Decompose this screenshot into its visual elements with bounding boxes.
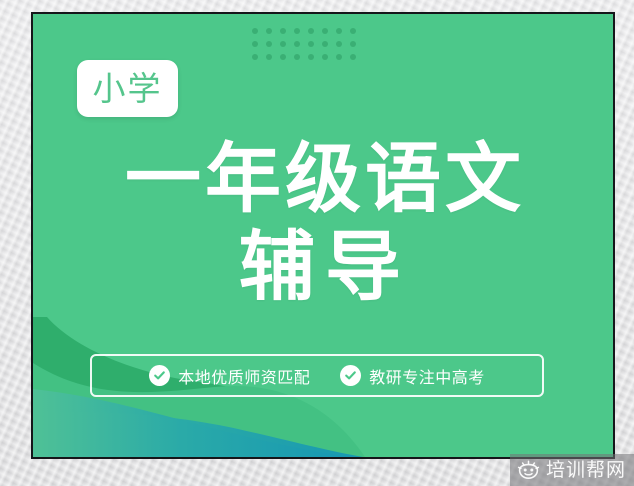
grid-dot bbox=[308, 41, 314, 47]
grid-dot bbox=[350, 28, 356, 34]
grid-dot bbox=[266, 41, 272, 47]
grid-dot bbox=[350, 54, 356, 60]
wave-front-teal bbox=[33, 389, 351, 457]
grid-dot bbox=[308, 54, 314, 60]
dot-grid-decoration bbox=[248, 24, 360, 64]
feature-bar: 本地优质师资匹配 教研专注中高考 bbox=[90, 354, 544, 397]
grid-dot bbox=[322, 54, 328, 60]
feature-item-1: 本地优质师资匹配 bbox=[149, 364, 310, 388]
grid-dot bbox=[322, 41, 328, 47]
grid-dot bbox=[280, 28, 286, 34]
sun-face-logo-icon bbox=[517, 460, 540, 480]
grid-dot bbox=[252, 54, 258, 60]
grid-dot bbox=[280, 54, 286, 60]
watermark: 培训帮网 bbox=[510, 454, 634, 486]
grid-dot bbox=[280, 41, 286, 47]
grid-dot bbox=[336, 28, 342, 34]
grid-dot bbox=[294, 28, 300, 34]
headline-line-1: 一年级语文 bbox=[33, 136, 615, 222]
check-circle-icon bbox=[340, 365, 361, 386]
feature-item-2: 教研专注中高考 bbox=[340, 364, 485, 388]
headline-block: 一年级语文 辅导 bbox=[33, 136, 615, 310]
grid-dot bbox=[322, 28, 328, 34]
grid-dot bbox=[294, 41, 300, 47]
feature-label-2: 教研专注中高考 bbox=[369, 364, 485, 388]
grid-dot bbox=[336, 41, 342, 47]
grid-dot bbox=[350, 41, 356, 47]
grid-dot bbox=[308, 28, 314, 34]
grid-dot bbox=[294, 54, 300, 60]
level-badge-label: 小学 bbox=[93, 72, 163, 105]
poster-card: 小学 一年级语文 辅导 本地优质师资匹配 bbox=[31, 12, 615, 459]
wave-front-teal-right bbox=[33, 412, 363, 457]
grid-dot bbox=[252, 41, 258, 47]
feature-label-1: 本地优质师资匹配 bbox=[178, 364, 310, 388]
headline-line-2: 辅导 bbox=[33, 224, 615, 310]
watermark-text: 培训帮网 bbox=[546, 461, 626, 480]
grid-dot bbox=[266, 28, 272, 34]
grid-dot bbox=[336, 54, 342, 60]
check-circle-icon bbox=[149, 365, 170, 386]
level-badge: 小学 bbox=[77, 60, 178, 117]
grid-dot bbox=[252, 28, 258, 34]
grid-dot bbox=[266, 54, 272, 60]
poster-canvas: 小学 一年级语文 辅导 本地优质师资匹配 bbox=[0, 0, 634, 486]
